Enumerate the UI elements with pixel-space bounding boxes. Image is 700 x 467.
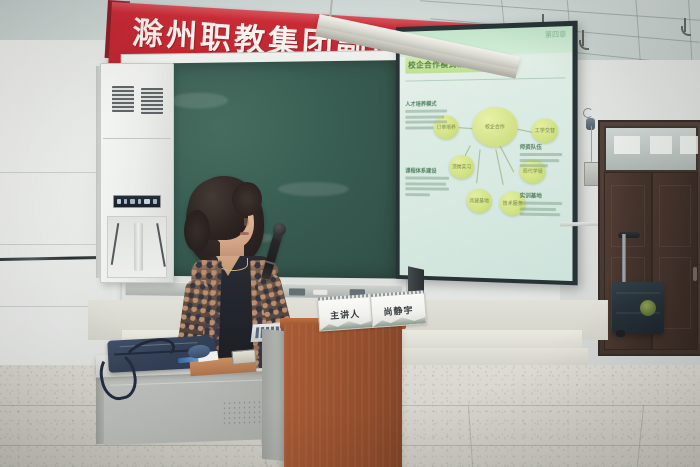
lectern: [284, 324, 402, 467]
cabinet-seam: [103, 138, 171, 139]
callout-title: 实训基地: [520, 191, 565, 200]
cabinet-vent: [141, 88, 163, 114]
door-handle[interactable]: [693, 267, 697, 281]
cabinet-vent: [112, 86, 134, 112]
desk-speaker-grill: [222, 399, 262, 426]
node-label: 工学交替: [532, 127, 558, 134]
placard-right-card: 尚静宇: [370, 292, 427, 328]
hair-curl: [184, 210, 210, 252]
cabinet-open-compartment: [107, 216, 167, 278]
ceiling-hook: [684, 18, 686, 32]
suitcase-badge: [640, 300, 656, 316]
placard-left-card: 主讲人: [317, 296, 373, 332]
cabinet-pipe: [134, 223, 143, 271]
rolling-suitcase[interactable]: [612, 282, 664, 334]
node-label: 共建基地: [466, 197, 491, 204]
cabinet-display: [113, 195, 161, 208]
phone-device[interactable]: [231, 349, 256, 365]
wall-cord: [591, 126, 592, 164]
nose: [244, 218, 249, 226]
node-label: 顶岗实习: [449, 163, 474, 170]
diagram-node: 顶岗实习: [449, 155, 474, 179]
callout-title: 师资队伍: [520, 143, 565, 151]
mouth: [240, 232, 249, 235]
diagram-node: 共建基地: [466, 189, 491, 213]
slide-callout: 人才培养模式: [405, 100, 449, 132]
node-label: 校企合作: [472, 123, 517, 130]
microphone-head: [271, 221, 287, 237]
slide-callout: 师资队伍: [520, 143, 565, 170]
placard-role-text: 主讲人: [319, 306, 372, 323]
slide-callout: 课程体系建设: [405, 167, 451, 199]
diagram-node: 工学交替: [532, 118, 558, 143]
door-transom: [604, 126, 698, 172]
hair-curl: [232, 182, 262, 216]
suitcase-handle[interactable]: [622, 234, 626, 284]
wall-cabinet: [100, 63, 174, 283]
name-placard: 主讲人 尚静宇: [317, 292, 425, 329]
slide-callout: 实训基地: [520, 191, 565, 219]
classroom-photo: 滁州职教集团副理事长单位 第四章 校企合作模式研究: [0, 0, 700, 467]
placard-name-text: 尚静宇: [372, 302, 426, 319]
diagram-center-node: 校企合作: [472, 107, 517, 147]
lectern-side: [262, 329, 286, 462]
ceiling-hook: [582, 30, 584, 46]
callout-title: 课程体系建设: [405, 167, 451, 175]
slide-diagram: 校企合作 订单培养 工学交替 顶岗实习 现代学徒 共建基地 技术: [400, 79, 573, 279]
slide-corner-text: 第四章: [545, 29, 566, 40]
wall-hook-icon: [583, 108, 593, 118]
necklace: [218, 258, 248, 271]
callout-title: 人才培养模式: [405, 100, 449, 108]
suitcase-wheel: [616, 330, 625, 337]
